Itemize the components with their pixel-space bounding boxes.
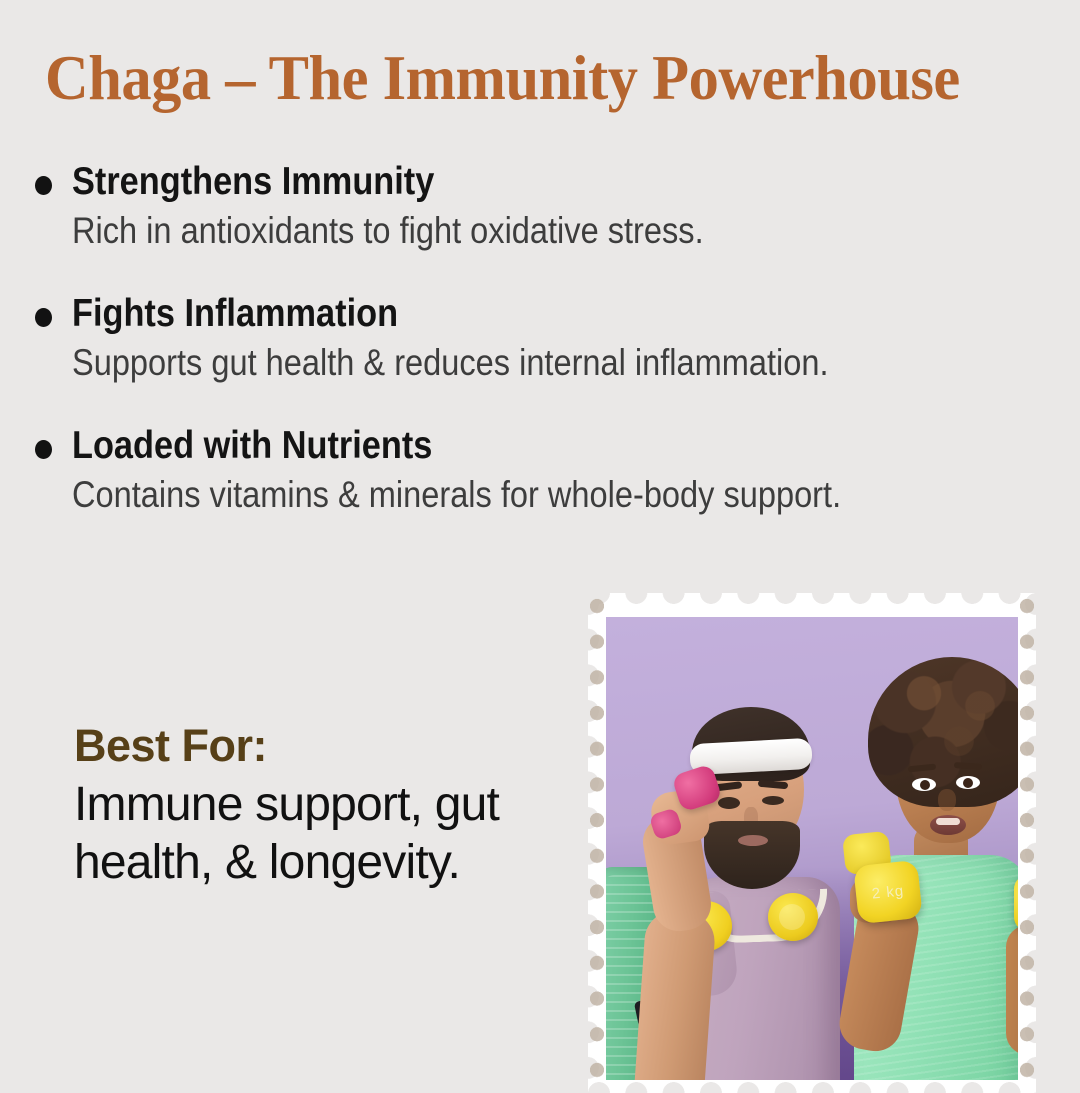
- subject-woman: 2 kg: [818, 639, 1018, 1080]
- man-eye-left: [718, 797, 740, 809]
- woman-arm-right: [1006, 925, 1018, 1055]
- benefits-list: Strengthens Immunity Rich in antioxidant…: [0, 160, 1080, 556]
- benefit-description: Contains vitamins & minerals for whole-b…: [72, 472, 959, 518]
- woman-eye-right: [956, 776, 980, 789]
- benefit-description: Rich in antioxidants to fight oxidative …: [72, 208, 959, 254]
- benefit-heading: Strengthens Immunity: [72, 160, 959, 204]
- photo-fitness-couple: 2 kg: [606, 617, 1018, 1080]
- bullet-dot-icon: [35, 440, 52, 459]
- yellow-dumbbell: 2 kg: [853, 860, 923, 924]
- page-title: Chaga – The Immunity Powerhouse: [45, 42, 1015, 114]
- best-for-body: Immune support, gut health, & longevity.: [74, 776, 584, 892]
- benefit-heading: Fights Inflammation: [72, 292, 959, 336]
- woman-mouth: [930, 815, 966, 835]
- best-for-label: Best For:: [74, 720, 584, 772]
- best-for-block: Best For: Immune support, gut health, & …: [74, 720, 584, 892]
- woman-hair-afro: [868, 657, 1018, 807]
- man-upper-arm: [633, 909, 716, 1080]
- man-lips: [738, 835, 768, 846]
- bullet-dot-icon: [35, 308, 52, 327]
- bullet-dot-icon: [35, 176, 52, 195]
- woman-eye-left: [912, 778, 936, 791]
- list-item: Strengthens Immunity Rich in antioxidant…: [0, 160, 1080, 254]
- headphone-cup-right: [768, 893, 818, 941]
- photo-scene: 2 kg: [606, 617, 1018, 1080]
- benefit-heading: Loaded with Nutrients: [72, 424, 959, 468]
- list-item: Loaded with Nutrients Contains vitamins …: [0, 424, 1080, 518]
- benefit-description: Supports gut health & reduces internal i…: [72, 340, 959, 386]
- dumbbell-weight-label: 2 kg: [853, 860, 923, 924]
- list-item: Fights Inflammation Supports gut health …: [0, 292, 1080, 386]
- yellow-dumbbell-right: [1014, 875, 1018, 931]
- man-eye-right: [762, 796, 784, 805]
- woman-nose: [938, 789, 956, 811]
